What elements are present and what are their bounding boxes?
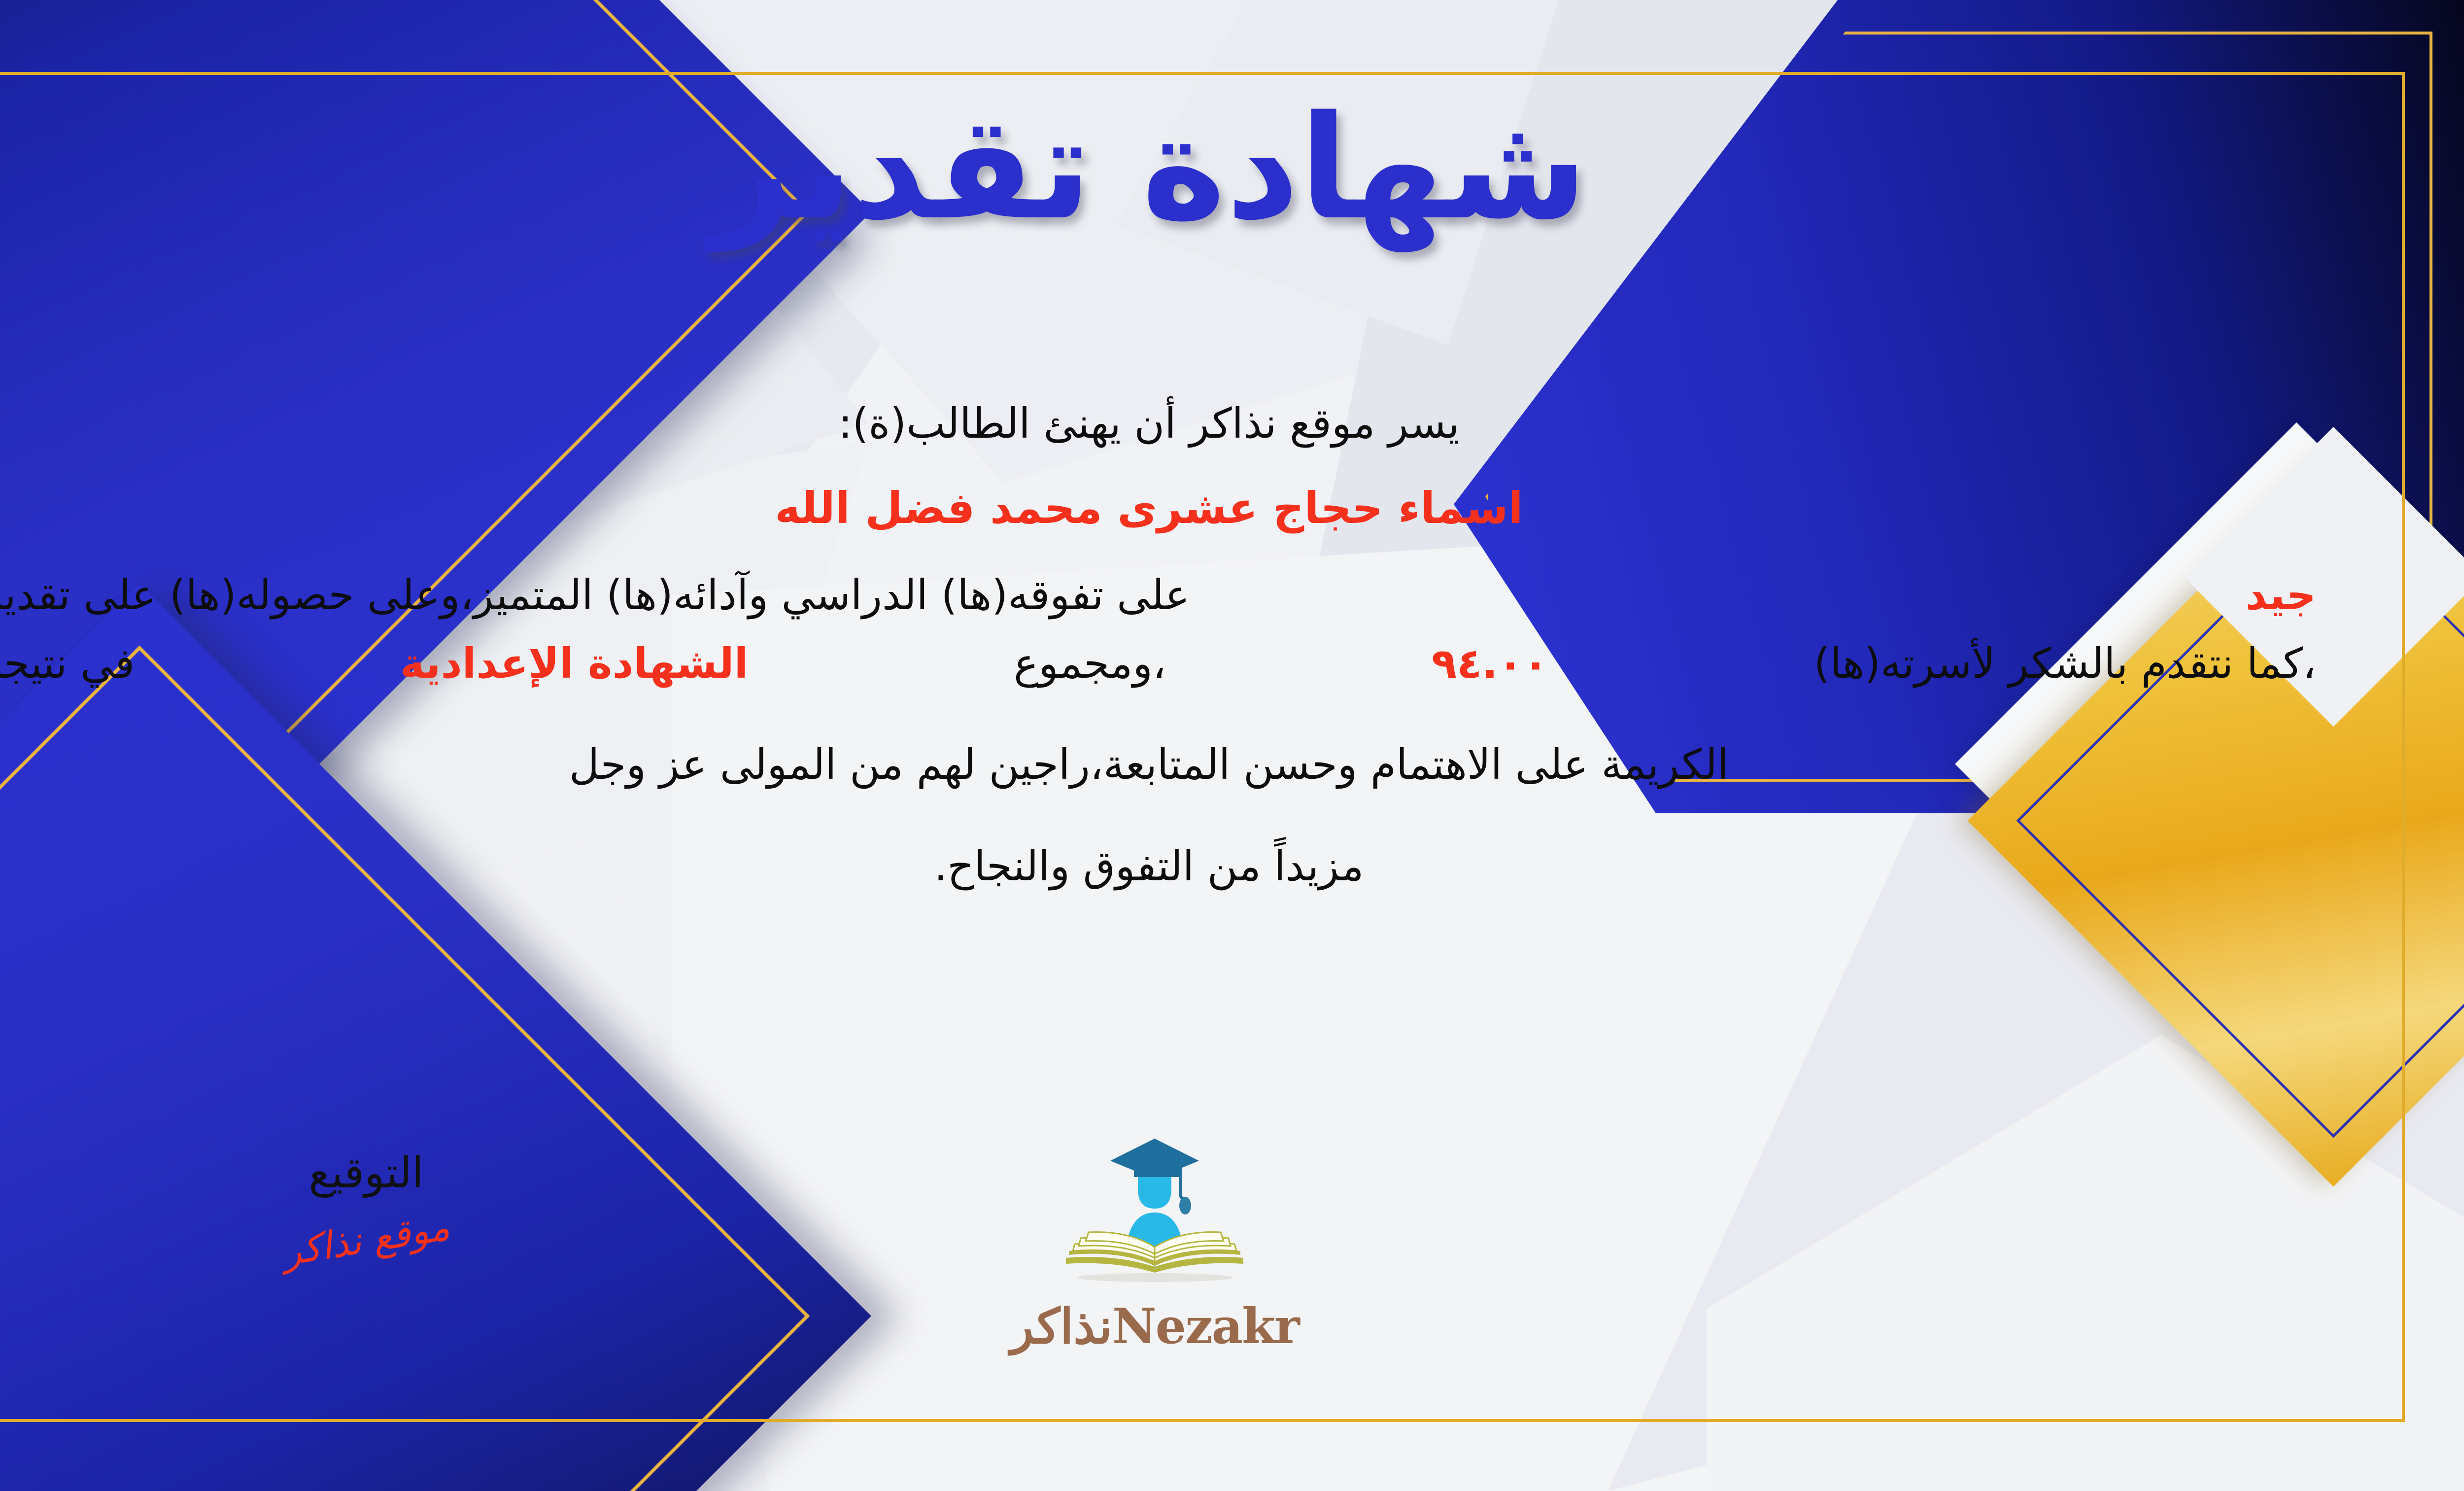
result-line-row: ،كما نتقدم بالشكر لأسرته(ها) ٩٤.٠٠ ،ومجم… [0, 634, 2316, 693]
signature-mark: موقع نذاكر [280, 1205, 453, 1274]
brand-logo-text: Nezakrنذاكر [967, 1298, 1342, 1355]
signature-label: التوقيع [208, 1148, 524, 1198]
certificate-body: يسر موقع نذاكر أن يهنئ الطالب(ة): اسماء … [0, 394, 2316, 937]
result-prefix: في نتيجة [0, 634, 135, 693]
signature-block: التوقيع موقع نذاكر [208, 1148, 524, 1261]
grade-value: جيد [2246, 566, 2316, 624]
thanks-text: ،كما نتقدم بالشكر لأسرته(ها) [1814, 634, 2316, 693]
certificate-type: الشهادة الإعدادية [400, 634, 748, 693]
brand-logo: Nezakrنذاكر [967, 1134, 1342, 1355]
certificate-content: شهادة تقدير يسر موقع نذاكر أن يهنئ الطال… [0, 0, 2464, 1491]
total-score: ٩٤.٠٠ [1432, 634, 1548, 693]
wish-line: مزيداً من التفوق والنجاح. [0, 836, 2316, 897]
excellence-line-row: جيد على تفوقه(ها) الدراسي وآدائه(ها) الم… [0, 566, 2316, 624]
certificate-page: شهادة تقدير يسر موقع نذاكر أن يهنئ الطال… [0, 0, 2464, 1491]
total-label: ،ومجموع [1014, 634, 1166, 693]
graduate-book-icon [1051, 1134, 1258, 1296]
congratulation-line: يسر موقع نذاكر أن يهنئ الطالب(ة): [0, 394, 2316, 453]
student-name: اسماء حجاج عشرى محمد فضل الله [0, 478, 2316, 539]
certificate-title: شهادة تقدير [0, 94, 2464, 244]
family-thanks-line: الكريمة على الاهتمام وحسن المتابعة،راجين… [0, 735, 2316, 795]
excellence-text: على تفوقه(ها) الدراسي وآدائه(ها) المتميز… [0, 566, 1190, 624]
